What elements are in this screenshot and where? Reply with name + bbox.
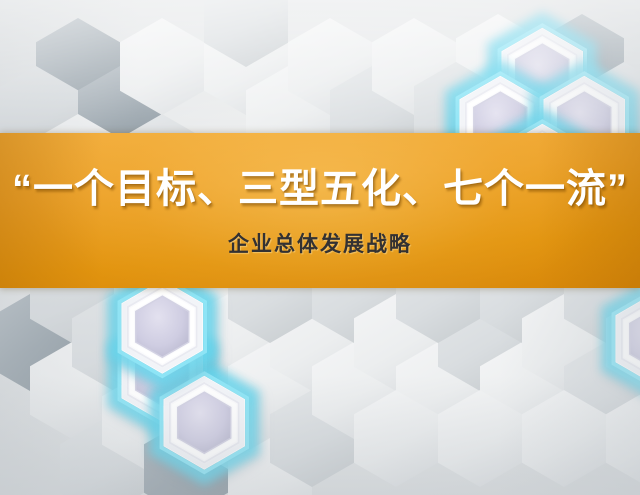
slide-subtitle: 企业总体发展战略 <box>228 228 412 258</box>
slide-title: “一个目标、三型五化、七个一流” <box>12 163 628 212</box>
title-banner: “一个目标、三型五化、七个一流” 企业总体发展战略 <box>0 133 640 288</box>
presentation-slide: “一个目标、三型五化、七个一流” 企业总体发展战略 <box>0 0 640 495</box>
banner-content: “一个目标、三型五化、七个一流” 企业总体发展战略 <box>0 133 640 288</box>
